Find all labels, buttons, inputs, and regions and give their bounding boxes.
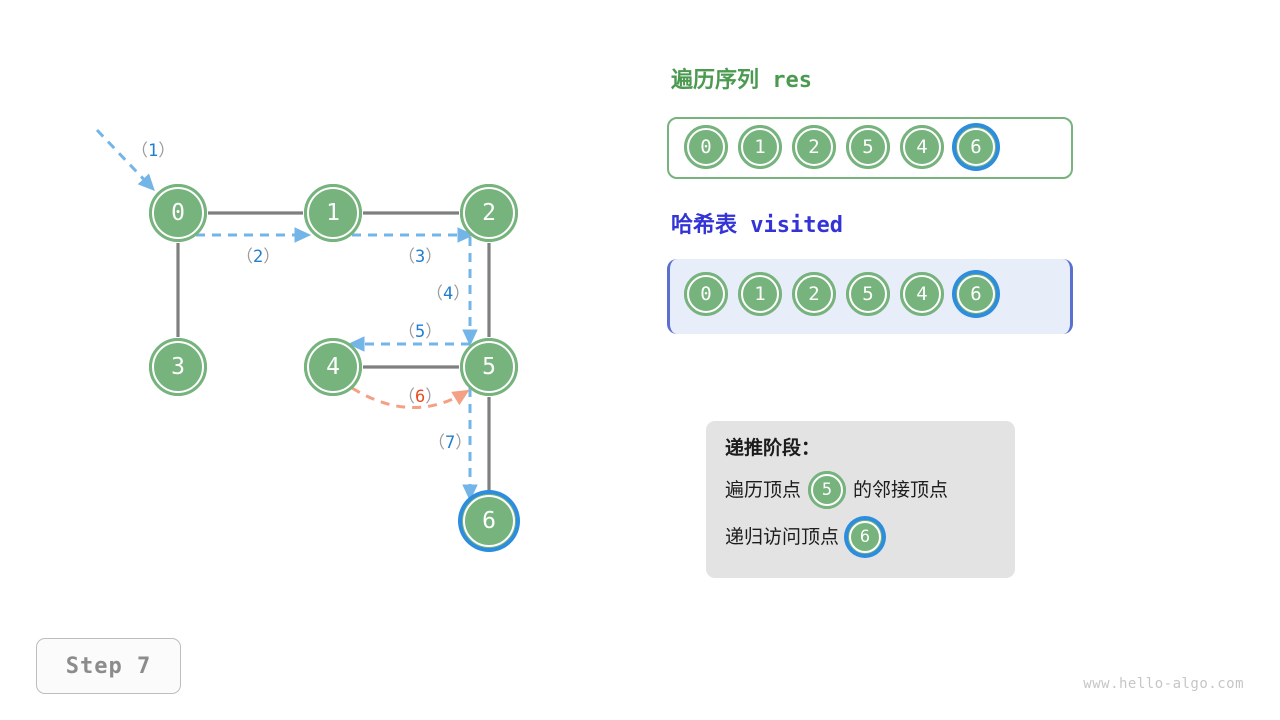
visited-section-title: 哈希表 visited	[671, 207, 843, 239]
node-label: 6	[860, 529, 870, 546]
res-cell-row: 012546	[684, 125, 998, 169]
visited-cell-4: 4	[900, 272, 944, 316]
info-inline-node-5: 5	[808, 471, 846, 509]
graph-node-4: 4	[304, 338, 362, 396]
node-label: 2	[482, 202, 496, 225]
graph-node-3: 3	[149, 338, 207, 396]
node-label: 0	[700, 285, 711, 304]
graph-node-0: 0	[149, 184, 207, 242]
info-line1-prefix: 遍历顶点	[725, 481, 801, 500]
traversal-arrow-group	[97, 130, 470, 497]
node-label: 1	[326, 202, 340, 225]
node-label: 1	[754, 138, 765, 157]
node-label: 5	[862, 138, 873, 157]
step-index-label-3: （3）	[398, 242, 442, 267]
graph-node-6: 6	[460, 492, 518, 550]
info-line2-prefix: 递归访问顶点	[725, 528, 839, 547]
node-label: 4	[916, 138, 927, 157]
info-panel-line-2: 递归访问顶点 6	[725, 518, 1015, 556]
visited-cell-0: 0	[684, 272, 728, 316]
res-cell-1: 1	[738, 125, 782, 169]
step-index-label-1: （1）	[131, 136, 175, 161]
visited-cell-2: 2	[792, 272, 836, 316]
step-index-label-2: （2）	[236, 242, 280, 267]
info-line1-suffix: 的邻接顶点	[853, 481, 948, 500]
node-label: 5	[482, 356, 496, 379]
node-label: 6	[970, 138, 981, 157]
res-cell-0: 0	[684, 125, 728, 169]
node-label: 4	[326, 356, 340, 379]
node-label: 6	[482, 510, 496, 533]
node-label: 3	[171, 356, 185, 379]
node-label: 5	[862, 285, 873, 304]
step-index-label-4: （4）	[426, 279, 470, 304]
node-label: 0	[171, 202, 185, 225]
res-cell-4: 4	[900, 125, 944, 169]
info-inline-node-6: 6	[846, 518, 884, 556]
graph-node-5: 5	[460, 338, 518, 396]
node-label: 6	[970, 285, 981, 304]
node-label: 1	[754, 285, 765, 304]
node-label: 2	[808, 285, 819, 304]
visited-cell-1: 1	[738, 272, 782, 316]
res-cell-5: 5	[846, 125, 890, 169]
step-index-label-5: （5）	[398, 317, 442, 342]
node-label: 2	[808, 138, 819, 157]
step-index-label-6: （6）	[398, 382, 442, 407]
visited-cell-row: 012546	[684, 272, 998, 316]
graph-node-2: 2	[460, 184, 518, 242]
step-badge: Step 7	[36, 638, 181, 694]
node-label: 0	[700, 138, 711, 157]
graph-node-1: 1	[304, 184, 362, 242]
res-cell-2: 2	[792, 125, 836, 169]
diagram-canvas: 0123456 （1）（2）（3）（4）（5）（6）（7） 遍历序列 res 0…	[0, 0, 1280, 720]
res-cell-6: 6	[954, 125, 998, 169]
footer-url: www.hello-algo.com	[1083, 676, 1244, 692]
info-panel: 递推阶段： 遍历顶点 5 的邻接顶点 递归访问顶点 6	[706, 421, 1015, 578]
res-section-title: 遍历序列 res	[671, 62, 812, 94]
visited-cell-6: 6	[954, 272, 998, 316]
node-label: 4	[916, 285, 927, 304]
step-index-label-7: （7）	[428, 428, 472, 453]
info-line2-node: 6	[839, 518, 891, 556]
visited-cell-5: 5	[846, 272, 890, 316]
info-panel-heading: 递推阶段：	[725, 439, 1015, 458]
node-label: 5	[822, 482, 832, 499]
info-line1-node: 5	[801, 471, 853, 509]
info-panel-line-1: 遍历顶点 5 的邻接顶点	[725, 471, 1015, 509]
